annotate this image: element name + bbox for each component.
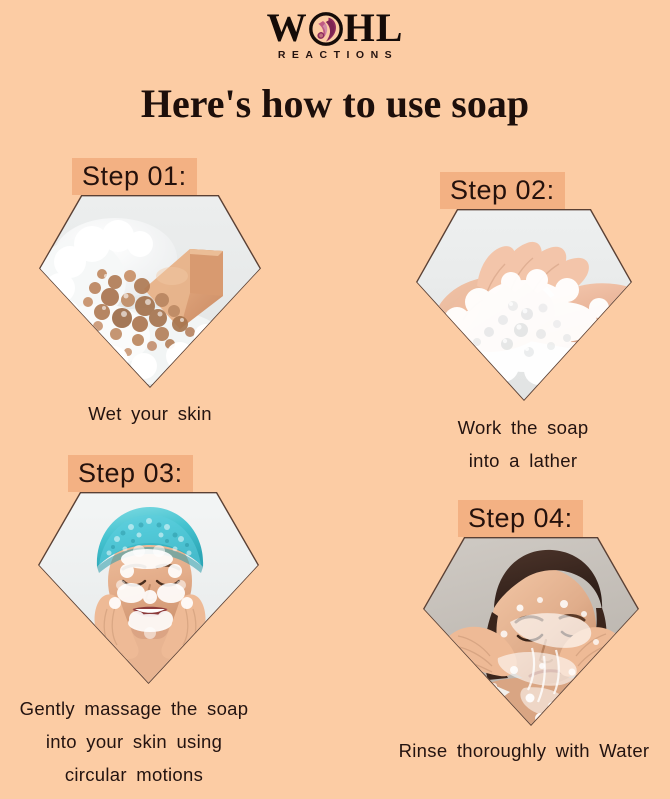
step-02-image — [416, 209, 632, 401]
step-01-image — [39, 195, 261, 388]
step-04-caption: Rinse thoroughly with Water — [378, 734, 670, 767]
step-03-image — [38, 492, 259, 684]
infographic-poster: W HL REACTIONS Here's how to use soap St… — [0, 0, 670, 799]
step-01-label: Step 01: — [72, 158, 197, 195]
step-card-04: Step 04: — [378, 500, 670, 767]
brand-name-part2: HL — [344, 6, 404, 50]
step-card-03: Step 03: — [20, 455, 288, 791]
woman-rinsing-face-with-water-art — [424, 538, 637, 724]
step-04-label-row: Step 04: — [378, 500, 670, 537]
step-02-label: Step 02: — [440, 172, 565, 209]
step-02-caption: Work the soap into a lather — [400, 411, 646, 477]
step-02-label-row: Step 02: — [400, 172, 646, 209]
brand-logo: W HL REACTIONS — [0, 6, 670, 61]
step-03-label-row: Step 03: — [20, 455, 288, 492]
step-04-label: Step 04: — [458, 500, 583, 537]
bar-of-soap-with-foam-art — [40, 196, 259, 386]
step-01-label-row: Step 01: — [30, 158, 270, 195]
brand-name-part1: W — [267, 6, 308, 50]
woman-hair-profile-icon — [309, 12, 343, 46]
hands-lathering-soap-art — [417, 210, 630, 399]
step-04-image — [423, 537, 639, 726]
step-card-02: Step 02: — [400, 172, 646, 477]
step-03-caption: Gently massage the soap into your skin u… — [0, 692, 268, 791]
page-title: Here's how to use soap — [0, 80, 670, 127]
brand-wordmark: W HL — [267, 6, 404, 50]
step-03-label: Step 03: — [68, 455, 193, 492]
step-card-01: Step 01: — [30, 158, 270, 430]
brand-tagline: REACTIONS — [0, 49, 670, 61]
step-01-caption: Wet your skin — [30, 397, 270, 430]
woman-in-shower-cap-massaging-face-art — [39, 493, 257, 682]
